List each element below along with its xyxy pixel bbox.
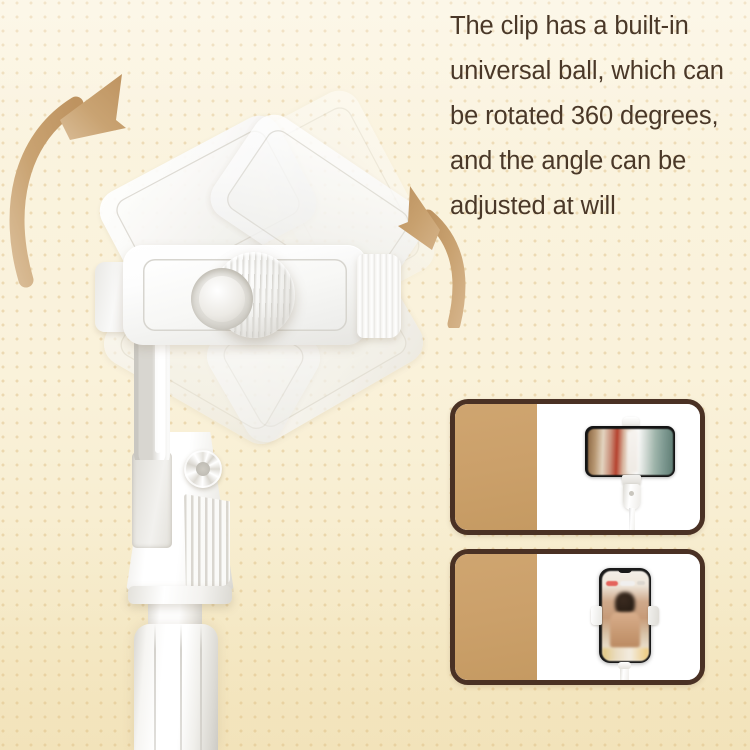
inset-tan-panel bbox=[455, 404, 537, 530]
inset-tan-panel bbox=[455, 554, 537, 680]
base-slot bbox=[132, 452, 172, 548]
base-collar bbox=[128, 586, 232, 604]
base-ridges bbox=[184, 494, 230, 586]
phone-notch bbox=[618, 569, 633, 573]
phone-screen-landscape bbox=[588, 429, 673, 475]
phone-landscape bbox=[585, 426, 675, 477]
phone-portrait bbox=[599, 568, 651, 663]
inset-landscape-mode bbox=[450, 399, 705, 535]
inset-photo-portrait bbox=[537, 554, 700, 680]
livestream-ui-bar bbox=[606, 580, 645, 587]
clip-arm-left bbox=[591, 606, 602, 625]
phone-screen-portrait bbox=[602, 571, 649, 661]
mini-pole bbox=[629, 508, 635, 535]
pole-lower-section bbox=[134, 624, 218, 750]
inset-portrait-mode bbox=[450, 549, 705, 685]
product-feature-image: The clip has a built-in universal ball, … bbox=[0, 0, 750, 750]
mini-pole bbox=[620, 662, 629, 685]
inset-photo-landscape bbox=[537, 404, 700, 530]
mini-base bbox=[623, 484, 640, 510]
ball-socket bbox=[191, 268, 253, 330]
clip-arm-right bbox=[648, 606, 659, 625]
rotation-arrow-left-icon bbox=[4, 62, 184, 292]
feature-caption: The clip has a built-in universal ball, … bbox=[450, 4, 750, 229]
